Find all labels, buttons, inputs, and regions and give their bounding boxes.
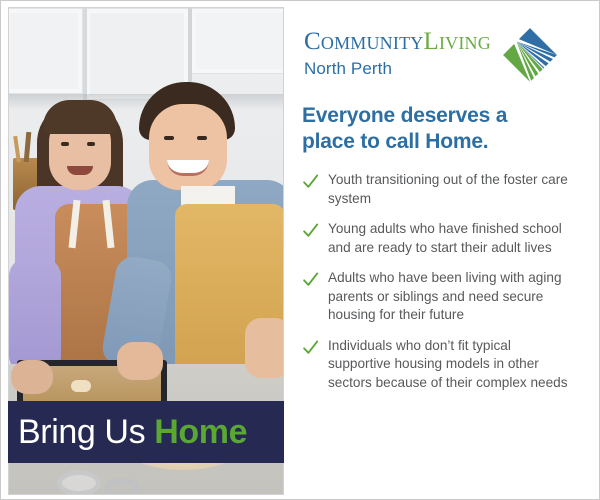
person-left-hair-top bbox=[43, 100, 117, 134]
banner-word-green: Home bbox=[154, 413, 247, 451]
content-panel: CommunityLiving North Perth bbox=[286, 7, 594, 495]
logo-line-primary: CommunityLiving bbox=[304, 29, 491, 54]
person-right-face bbox=[149, 104, 227, 190]
dough-piece bbox=[71, 380, 91, 392]
list-item: Adults who have been living with aging p… bbox=[302, 269, 576, 324]
upper-cabinet bbox=[191, 8, 283, 74]
bring-us-home-banner: Bring Us Home bbox=[8, 401, 284, 463]
person-left-hand bbox=[11, 360, 53, 394]
cabinet-seam bbox=[83, 8, 87, 100]
list-item-label: Individuals who don’t fit typical suppor… bbox=[328, 337, 576, 392]
list-item-label: Youth transitioning out of the foster ca… bbox=[328, 171, 576, 208]
list-item: Youth transitioning out of the foster ca… bbox=[302, 171, 576, 208]
headline-line-2: place to call Home. bbox=[302, 129, 576, 155]
promo-card: Bring Us Home CommunityLiving North Pert… bbox=[0, 0, 600, 500]
person-left-eye bbox=[61, 142, 69, 146]
logo: CommunityLiving North Perth bbox=[302, 29, 576, 91]
cookie-cutter bbox=[105, 478, 139, 494]
logo-wordmark: CommunityLiving North Perth bbox=[304, 29, 491, 79]
person-right-eye bbox=[197, 136, 207, 140]
green-checkmark-icon bbox=[302, 339, 319, 356]
radiating-diamond-logo-mark bbox=[502, 27, 558, 83]
list-item-label: Adults who have been living with aging p… bbox=[328, 269, 576, 324]
person-right-hand bbox=[245, 318, 283, 378]
logo-tagline: North Perth bbox=[304, 59, 491, 79]
list-item-label: Young adults who have finished school an… bbox=[328, 220, 576, 257]
cookie-cutter bbox=[57, 470, 101, 494]
banner-text: Bring Us Home bbox=[8, 415, 247, 449]
logo-word-living: Living bbox=[423, 28, 490, 55]
person-right-hand bbox=[117, 342, 163, 380]
page-title: Everyone deserves a place to call Home. bbox=[302, 103, 576, 154]
green-checkmark-icon bbox=[302, 271, 319, 288]
person-left-arm bbox=[9, 258, 61, 374]
person-left-eye bbox=[87, 142, 95, 146]
logo-word-community: Community bbox=[304, 28, 423, 55]
green-checkmark-icon bbox=[302, 173, 319, 190]
person-right-eye bbox=[164, 136, 174, 140]
upper-cabinet bbox=[9, 8, 83, 94]
green-checkmark-icon bbox=[302, 222, 319, 239]
banner-word-white: Bring Us bbox=[18, 413, 145, 451]
eligibility-list: Youth transitioning out of the foster ca… bbox=[302, 171, 576, 392]
list-item: Young adults who have finished school an… bbox=[302, 220, 576, 257]
list-item: Individuals who don’t fit typical suppor… bbox=[302, 337, 576, 392]
headline-line-1: Everyone deserves a bbox=[302, 103, 576, 129]
